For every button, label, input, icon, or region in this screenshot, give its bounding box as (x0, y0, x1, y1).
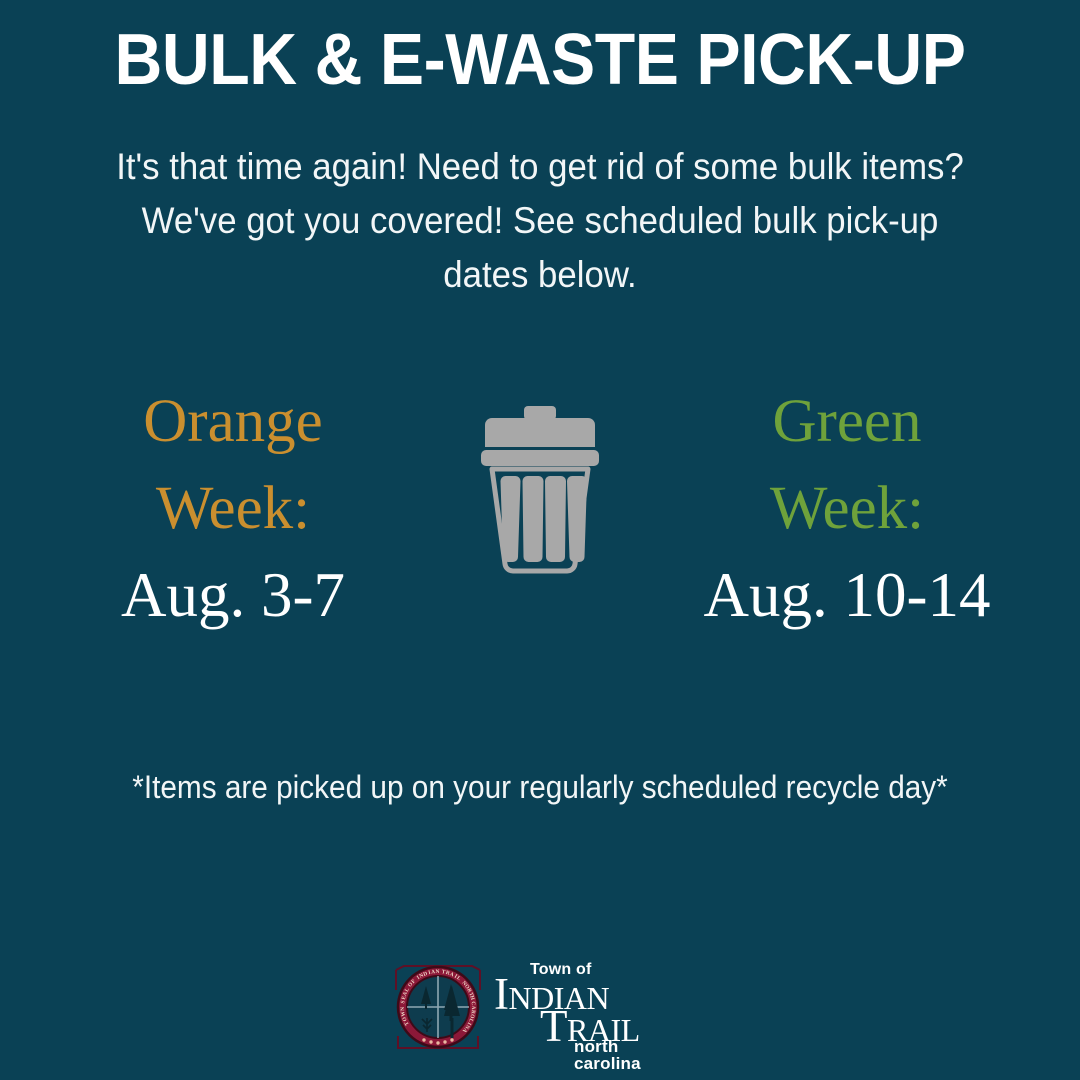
town-logo-wordmark: Town of Indian Trail north carolina (488, 958, 688, 1058)
trash-can-icon (476, 406, 604, 586)
orange-week-column: Orange Week: Aug. 3-7 (18, 378, 448, 638)
intro-paragraph: It's that time again! Need to get rid of… (65, 140, 1014, 302)
logo-state-label: north carolina (574, 1038, 688, 1072)
orange-week-dates: Aug. 3-7 (18, 552, 448, 638)
town-logo: T O W N S E A L O F I N D I A N T (390, 955, 690, 1060)
green-week-column: Green Week: Aug. 10-14 (632, 378, 1062, 638)
intro-line-3: dates below. (65, 248, 1014, 302)
page-title: BULK & E-WASTE PICK-UP (43, 24, 1037, 96)
svg-text:N: N (435, 968, 439, 974)
footnote-text: *Items are picked up on your regularly s… (38, 765, 1042, 809)
green-week-dates: Aug. 10-14 (632, 552, 1062, 638)
schedule-band: Orange Week: Aug. 3-7 (0, 378, 1080, 658)
orange-week-label-line2: Week: (18, 465, 448, 552)
green-week-label-line2: Week: (632, 465, 1062, 552)
intro-line-1: It's that time again! Need to get rid of… (65, 140, 1014, 194)
poster-canvas: BULK & E-WASTE PICK-UP It's that time ag… (0, 0, 1080, 1080)
town-seal-icon: T O W N S E A L O F I N D I A N T (390, 960, 486, 1056)
svg-text:N: N (400, 1006, 406, 1010)
green-week-label-line1: Green (632, 378, 1062, 465)
intro-line-2: We've got you covered! See scheduled bul… (65, 194, 1014, 248)
orange-week-label-line1: Orange (18, 378, 448, 465)
